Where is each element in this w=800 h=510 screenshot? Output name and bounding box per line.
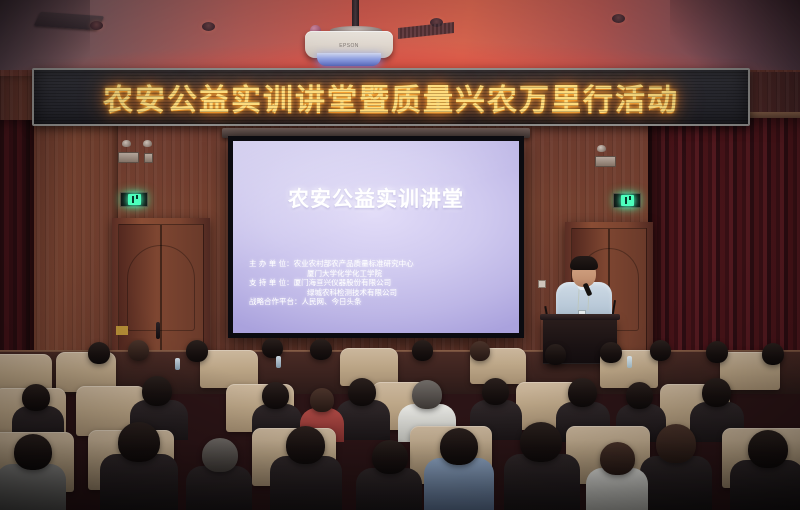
audience-head — [470, 341, 490, 361]
banner-title-text: 农安公益实训讲堂暨质量兴农万里行活动 — [103, 75, 679, 119]
audience-head — [412, 340, 433, 361]
audience-head — [22, 384, 50, 411]
slide-credit-line: 支 持 单 位：厦门海亘兴仪器股份有限公司 — [249, 278, 509, 288]
stage-curtain-right — [648, 118, 800, 370]
audience-head — [348, 378, 376, 406]
audience-shoulders — [640, 456, 712, 510]
audience-head — [202, 438, 238, 472]
running-person-icon — [621, 195, 634, 206]
slide-credits-block: 主 办 单 位：农业农村部农产品质量标准研究中心 厦门大学化学化工学院 支 持 … — [249, 259, 509, 307]
wall-outlet — [538, 280, 546, 288]
projection-screen: 农安公益实训讲堂 主 办 单 位：农业农村部农产品质量标准研究中心 厦门大学化学… — [233, 141, 519, 333]
stage-curtain-left — [0, 120, 34, 368]
audience-shoulders — [186, 466, 252, 510]
audience-head — [626, 382, 653, 409]
audience-area — [0, 338, 800, 510]
audience-head — [748, 430, 788, 468]
audience-head — [88, 342, 110, 364]
audience-head — [762, 343, 784, 365]
conference-hall-photo: EPSON 农安公益实训讲堂暨质量兴农万里行活动 农安公益实训讲堂 主 办 单 … — [0, 0, 800, 510]
audience-head — [706, 341, 728, 363]
downlight-icon — [612, 14, 625, 23]
slide-title: 农安公益实训讲堂 — [233, 183, 519, 213]
audience-head — [650, 340, 671, 361]
projector-brand-label: EPSON — [305, 43, 393, 49]
audience-head — [310, 339, 332, 360]
audience-head — [440, 428, 478, 465]
seat — [200, 350, 258, 388]
door-kick-plate — [116, 326, 128, 335]
audience-head — [412, 380, 442, 409]
audience-head — [14, 434, 52, 470]
downlight-icon — [202, 22, 215, 31]
exit-sign-left — [120, 192, 148, 207]
projection-screen-frame: 农安公益实训讲堂 主 办 单 位：农业农村部农产品质量标准研究中心 厦门大学化学… — [228, 136, 524, 338]
audience-head — [702, 378, 731, 407]
audience-head — [286, 426, 325, 464]
wall-control-panel — [595, 156, 616, 167]
water-bottle — [627, 356, 632, 368]
wall-control-panel — [118, 152, 139, 163]
audience-head — [482, 378, 509, 405]
slide-credit-line: 厦门大学化学化工学院 — [249, 269, 509, 279]
water-bottle — [276, 356, 281, 368]
audience-head — [118, 422, 160, 462]
running-person-icon — [128, 194, 141, 205]
audience-head — [600, 442, 635, 475]
audience-shoulders — [100, 454, 178, 510]
wall-sensor-icon — [122, 140, 131, 147]
slide-credit-line: 绿城农科检测技术有限公司 — [249, 288, 509, 298]
exit-sign-right — [613, 193, 641, 208]
audience-shoulders — [336, 400, 390, 440]
audience-head — [520, 422, 562, 462]
door-handle-icon[interactable] — [156, 322, 160, 339]
audience-head — [372, 440, 408, 474]
audience-head — [545, 344, 566, 365]
audience-shoulders — [270, 456, 342, 510]
slide-credit-line: 战略合作平台：人民网、今日头条 — [249, 297, 509, 307]
speaker-hair — [570, 256, 598, 270]
audience-shoulders — [356, 468, 422, 510]
audience-head — [142, 376, 172, 406]
slide-credit-line: 主 办 单 位：农业农村部农产品质量标准研究中心 — [249, 259, 509, 269]
projector-lens-icon — [317, 53, 381, 66]
audience-head — [186, 340, 208, 362]
wall-sensor-icon — [597, 145, 606, 152]
audience-shoulders — [504, 454, 580, 510]
wall-control-panel — [144, 153, 153, 163]
audience-shoulders — [0, 464, 66, 510]
audience-shoulders — [424, 458, 494, 510]
ceiling — [0, 0, 800, 78]
wall-sensor-icon — [143, 140, 152, 147]
downlight-icon — [90, 21, 103, 30]
audience-head — [568, 378, 597, 407]
audience-head — [600, 342, 622, 363]
podium-top-surface — [540, 314, 620, 320]
audience-head — [262, 338, 283, 358]
audience-head — [656, 424, 696, 463]
water-bottle — [175, 358, 180, 370]
audience-head — [262, 382, 289, 409]
audience-head — [310, 388, 334, 412]
audience-head — [128, 340, 149, 361]
led-banner: 农安公益实训讲堂暨质量兴农万里行活动 — [32, 68, 750, 126]
